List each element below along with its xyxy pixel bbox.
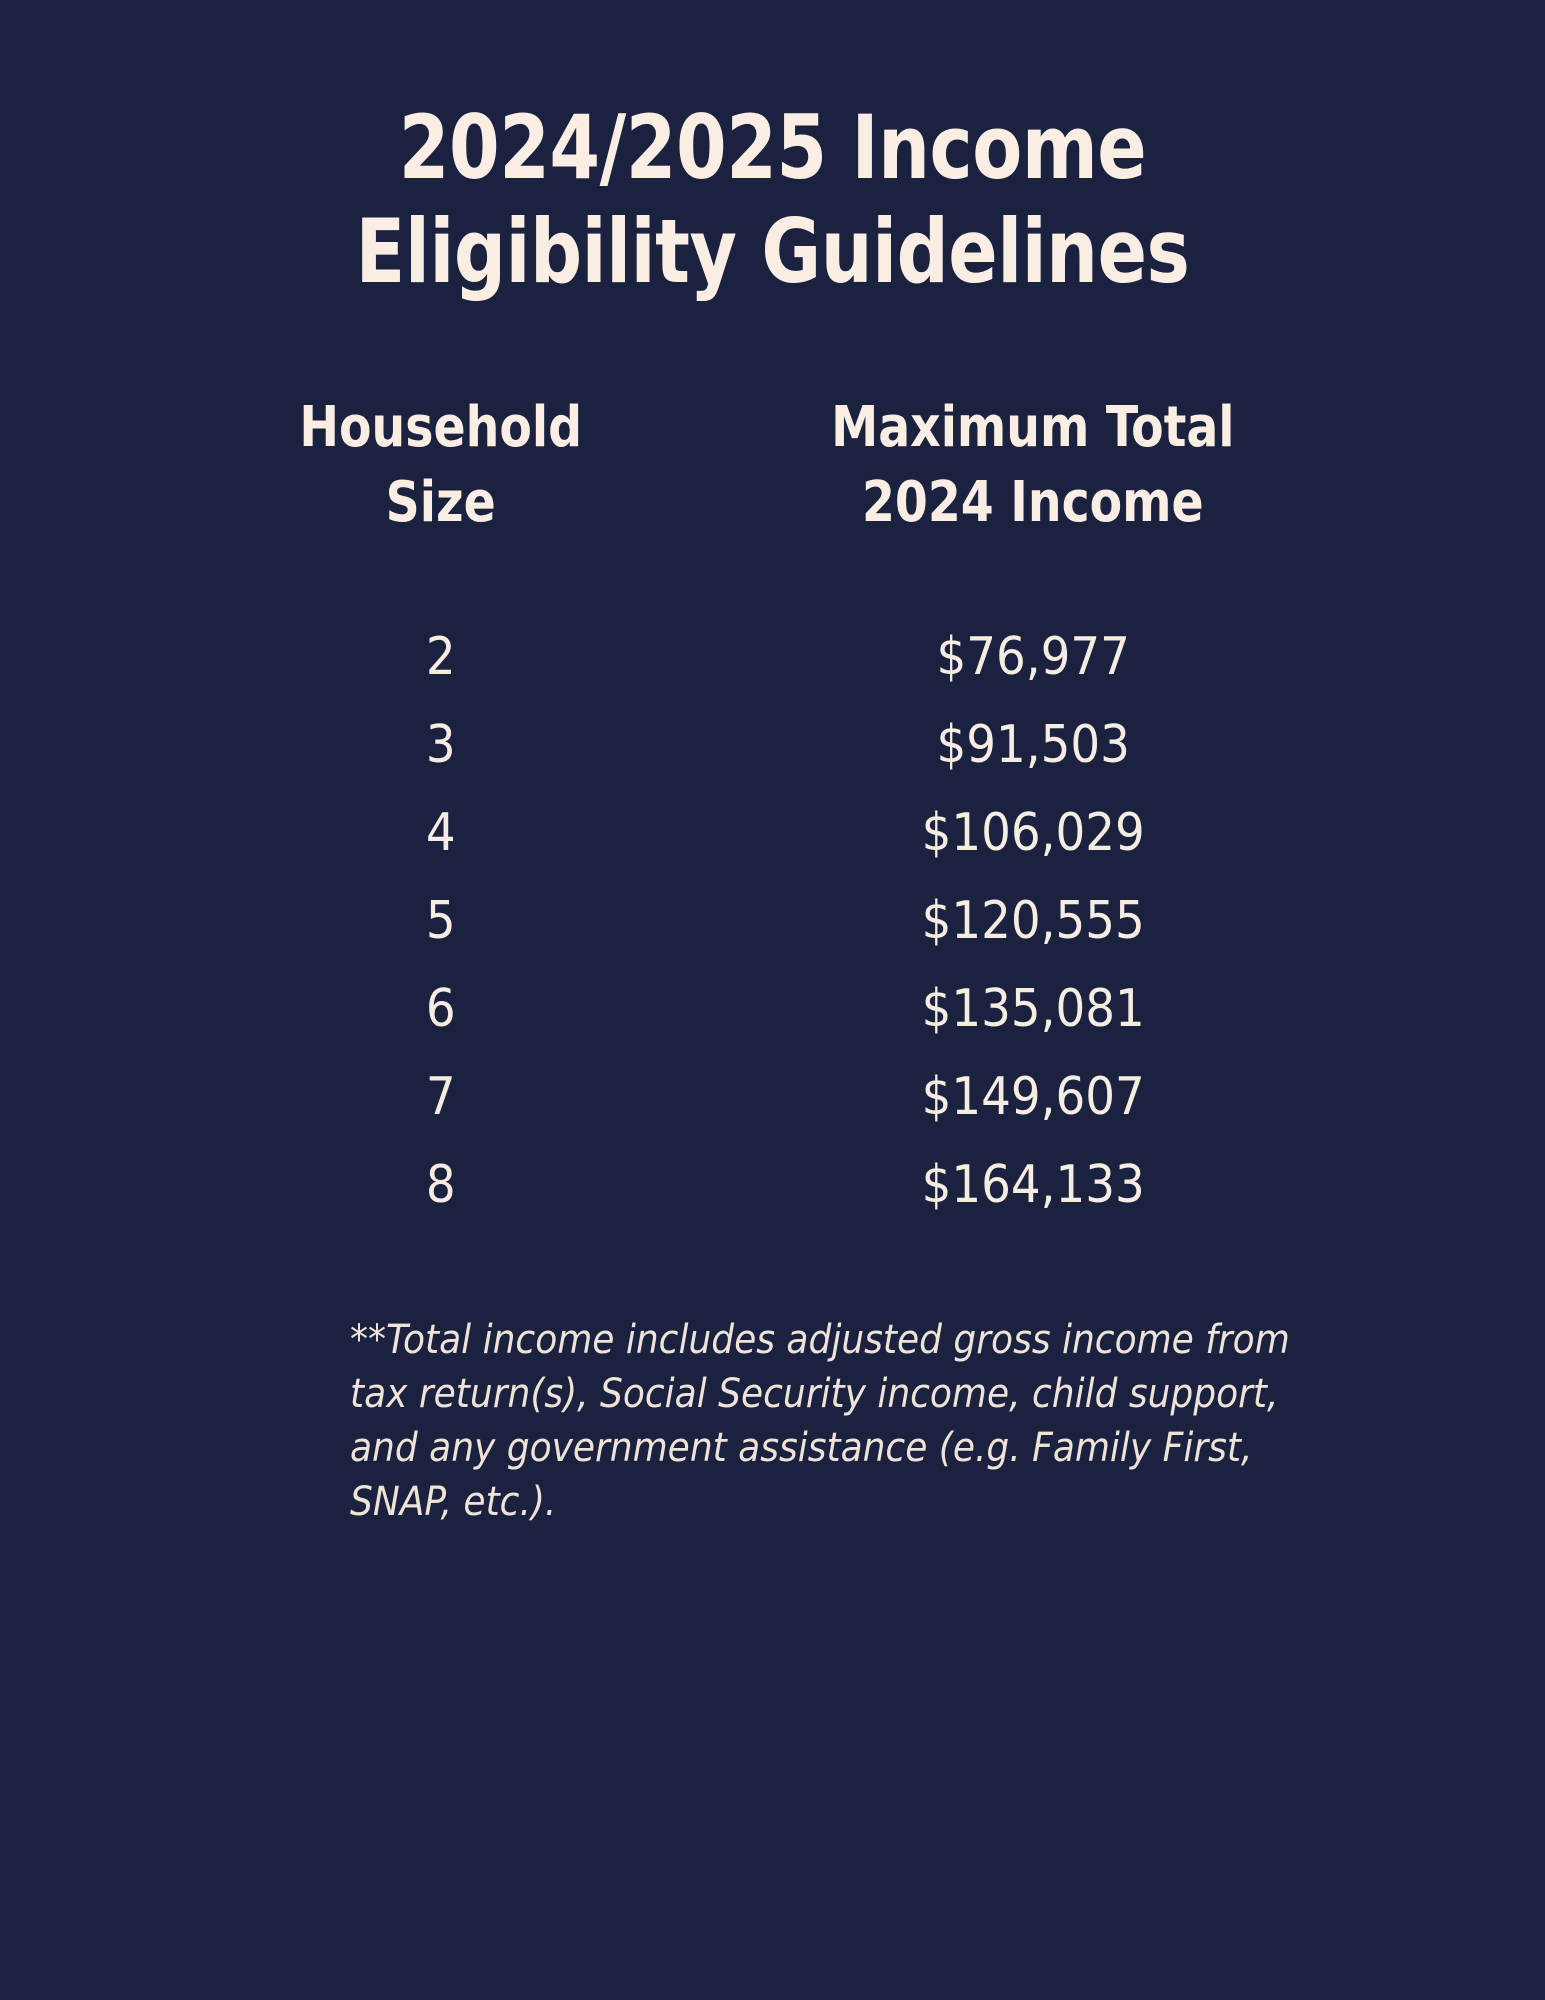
eligibility-table-container: Household Size Maximum Total 2024 Income… <box>0 390 1545 1229</box>
column-header-maximum-income-line-1: Maximum Total <box>721 390 1345 466</box>
maximum-income-value: $164,133 <box>701 1141 1365 1229</box>
column-header-household-size-line-2: Size <box>196 465 686 541</box>
maximum-income-value: $120,555 <box>701 877 1365 965</box>
maximum-income-value: $106,029 <box>701 789 1365 877</box>
table-body: 2 $76,977 3 $91,503 4 $106,029 5 $120,55… <box>180 559 1365 1229</box>
household-size-value: 2 <box>180 559 701 701</box>
table-header-row: Household Size Maximum Total 2024 Income <box>180 390 1365 559</box>
page-title: 2024/2025 Income Eligibility Guidelines <box>0 0 1545 304</box>
household-size-value: 4 <box>180 789 701 877</box>
page-title-line-2: Eligibility Guidelines <box>62 200 1483 304</box>
table-row: 2 $76,977 <box>180 559 1365 701</box>
footnote-text: **Total income includes adjusted gross i… <box>0 1313 1545 1529</box>
income-eligibility-poster: 2024/2025 Income Eligibility Guidelines … <box>0 0 1545 2000</box>
household-size-value: 3 <box>180 701 701 789</box>
column-header-maximum-income: Maximum Total 2024 Income <box>721 390 1345 559</box>
table-row: 3 $91,503 <box>180 701 1365 789</box>
maximum-income-value: $76,977 <box>701 559 1365 701</box>
table-row: 7 $149,607 <box>180 1053 1365 1141</box>
household-size-value: 5 <box>180 877 701 965</box>
column-header-maximum-income-line-2: 2024 Income <box>721 465 1345 541</box>
table-header: Household Size Maximum Total 2024 Income <box>180 390 1365 559</box>
household-size-value: 7 <box>180 1053 701 1141</box>
eligibility-table: Household Size Maximum Total 2024 Income… <box>180 390 1365 1229</box>
maximum-income-value: $91,503 <box>701 701 1365 789</box>
table-row: 8 $164,133 <box>180 1141 1365 1229</box>
table-row: 5 $120,555 <box>180 877 1365 965</box>
table-row: 4 $106,029 <box>180 789 1365 877</box>
household-size-value: 8 <box>180 1141 701 1229</box>
column-header-household-size: Household Size <box>196 390 686 559</box>
maximum-income-value: $135,081 <box>701 965 1365 1053</box>
household-size-value: 6 <box>180 965 701 1053</box>
maximum-income-value: $149,607 <box>701 1053 1365 1141</box>
column-header-household-size-line-1: Household <box>196 390 686 466</box>
table-row: 6 $135,081 <box>180 965 1365 1053</box>
page-title-line-1: 2024/2025 Income <box>62 96 1483 200</box>
